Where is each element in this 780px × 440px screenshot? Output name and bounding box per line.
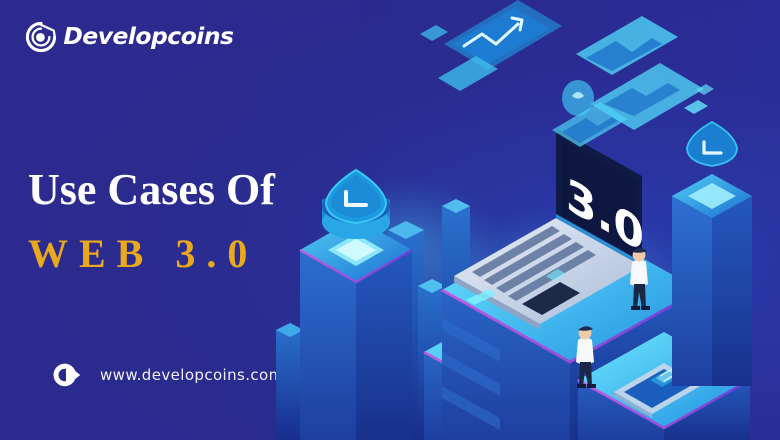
isometric-web3-illustration: 3.0 <box>260 0 780 440</box>
headline-block: Use Cases Of WEB 3.0 <box>28 168 275 274</box>
right-tower-block <box>672 122 752 386</box>
laptop: 3.0 <box>454 128 644 330</box>
clock-tower-block <box>300 170 412 440</box>
laptop-screen-text: 3.0 <box>566 168 644 264</box>
brand-logo[interactable]: Developcoins <box>24 20 232 54</box>
website-link[interactable]: www.developcoins.com <box>50 357 284 393</box>
headline-line-1: Use Cases Of <box>28 168 275 212</box>
clock-shield-badge <box>687 122 737 166</box>
standing-person <box>576 326 596 388</box>
standing-person <box>630 248 650 310</box>
clock-shield-badge <box>326 170 386 223</box>
aperture-circle-icon <box>24 20 58 54</box>
tall-towers <box>276 199 470 440</box>
glow-chip <box>546 269 566 281</box>
headline-line-2: WEB 3.0 <box>28 234 275 274</box>
floating-ui-cards <box>420 0 714 147</box>
website-url-text: www.developcoins.com <box>100 366 284 384</box>
seated-person-with-laptop <box>496 332 526 384</box>
brand-logo-text: Developcoins <box>63 26 233 49</box>
laptop-platform-block: 3.0 <box>442 128 700 440</box>
glow-chip <box>476 289 496 301</box>
line-chart-card <box>444 0 562 70</box>
bar-chart-hologram <box>442 293 528 356</box>
play-circle-icon <box>50 357 88 393</box>
banner: Developcoins Use Cases Of WEB 3.0 www.de… <box>0 0 780 440</box>
svg-text:3.0: 3.0 <box>566 168 644 264</box>
phone-platform-block <box>576 326 750 440</box>
smartphone <box>614 351 712 418</box>
chart-platform-block <box>424 293 568 440</box>
